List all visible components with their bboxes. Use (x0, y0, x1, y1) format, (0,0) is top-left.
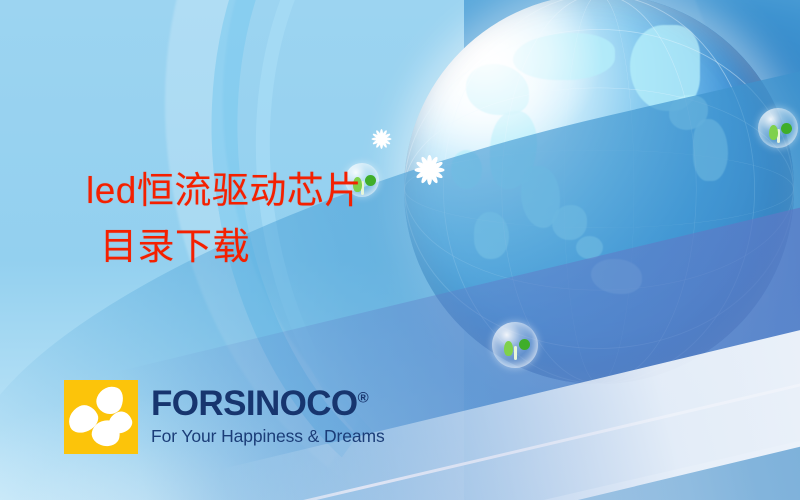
company-tagline: For Your Happiness & Dreams (151, 428, 385, 446)
bubble-sprout-center (492, 322, 538, 368)
registered-trademark-symbol: ® (358, 389, 369, 406)
globe-rim (404, 0, 794, 384)
logo-text-block: FORSINOCO® For Your Happiness & Dreams (151, 380, 385, 446)
promo-banner: led恒流驱动芯片 目录下载 FORSINOCO® For Your Happi… (0, 0, 800, 500)
headline-line-2: 目录下载 (100, 219, 362, 275)
headline: led恒流驱动芯片 目录下载 (86, 163, 362, 275)
earth-globe (404, 0, 794, 384)
company-name-text: FORSINOCO (151, 384, 358, 423)
company-name: FORSINOCO® (151, 386, 385, 421)
headline-line-1: led恒流驱动芯片 (86, 170, 362, 211)
forsinoco-pinwheel-mark (64, 380, 138, 454)
bubble-sprout-right (758, 108, 798, 148)
brand-logo: FORSINOCO® For Your Happiness & Dreams (64, 380, 385, 454)
